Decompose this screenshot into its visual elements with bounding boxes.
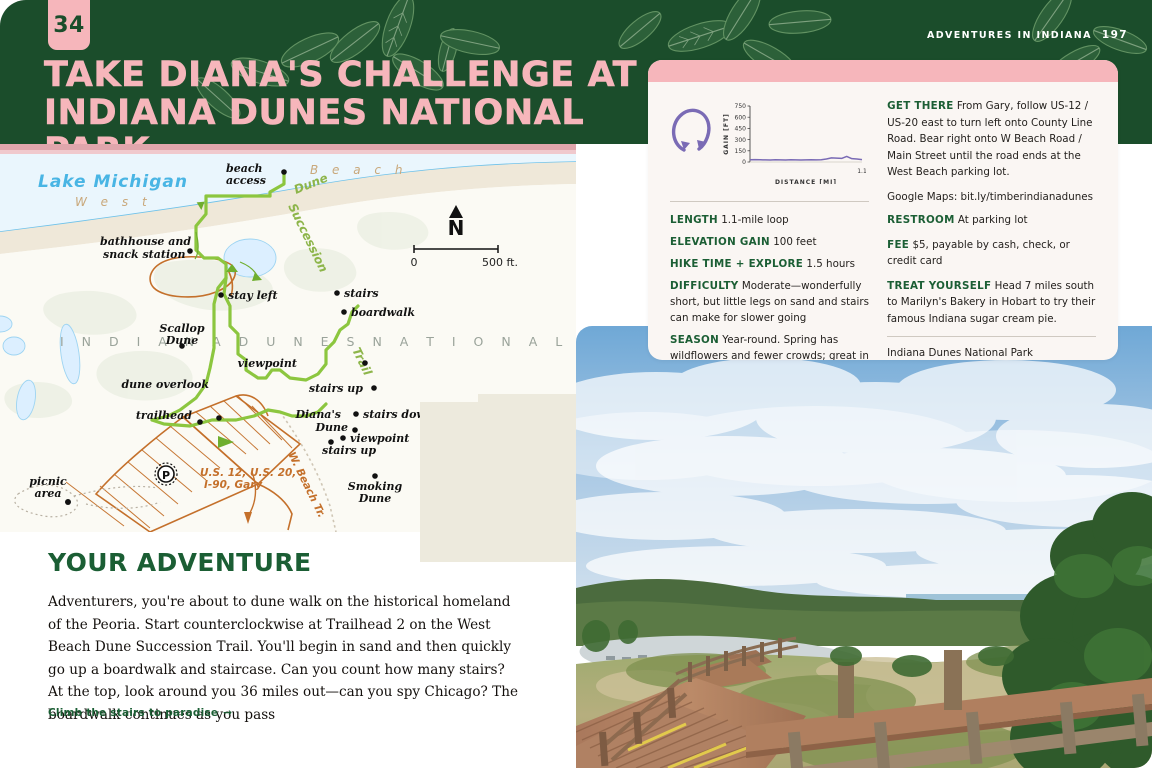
contact-block: Indiana Dunes National Park (219) 395-18…: [887, 346, 1096, 360]
info-card-left-column: 01503004506007501.1GAIN [FT]DISTANCE [MI…: [670, 98, 869, 360]
map-label-bathhouse-2: snack station: [103, 248, 185, 261]
running-head-label: ADVENTURES IN INDIANA: [927, 30, 1092, 41]
map-label-picnic-2: area: [34, 487, 61, 500]
elevation-profile-chart: 01503004506007501.1GAIN [FT]DISTANCE [MI…: [716, 98, 869, 189]
map-point-boardwalk[interactable]: [341, 309, 347, 315]
chart-ytick-600: 600: [735, 114, 747, 121]
map-point-stairs-down[interactable]: [353, 411, 359, 417]
hero-photo: [576, 326, 1152, 768]
your-adventure-body: Adventurers, you're about to dune walk o…: [48, 591, 518, 726]
your-adventure-section: YOUR ADVENTURE Adventurers, you're about…: [48, 548, 518, 726]
spec-season: SEASON Year-round. Spring has wildflower…: [670, 332, 869, 360]
map-label-boardwalk: boardwalk: [351, 306, 415, 319]
map-label-highway-2: I-90, Gary: [204, 479, 263, 491]
spec-difficulty-label: DIFFICULTY: [670, 280, 739, 292]
map-label-park: I N D I A N A D U N E S N A T I O N A L …: [60, 334, 576, 349]
spec-length-value: 1.1-mile loop: [721, 214, 788, 226]
your-adventure-heading: YOUR ADVENTURE: [48, 548, 518, 577]
spec-hike-time-value: 1.5 hours: [806, 258, 855, 270]
spec-elevation-gain: ELEVATION GAIN 100 feet: [670, 234, 869, 250]
block-google-maps-value[interactable]: Google Maps: bit.ly/timberindianadunes: [887, 191, 1093, 203]
chart-series-line: [750, 156, 862, 160]
chart-ytick-750: 750: [735, 103, 747, 110]
spec-elevation-gain-label: ELEVATION GAIN: [670, 236, 770, 248]
chart-xtick-end: 1.1: [857, 168, 866, 175]
map-scale-max: 500 ft.: [482, 256, 518, 269]
page-title-line-1: TAKE DIANA'S CHALLENGE AT: [44, 56, 684, 94]
chart-ytick-0: 0: [742, 159, 746, 166]
loop-trail-icon: [670, 98, 716, 159]
map-label-beach-access-2: access: [226, 174, 266, 187]
map-label-bathhouse-1: bathhouse and: [100, 235, 191, 248]
block-fee-value: $5, payable by cash, check, or credit ca…: [887, 239, 1070, 268]
map-label-scallop-dune-2: Dune: [165, 334, 199, 347]
map-label-highway-1: U.S. 12, U.S. 20,: [200, 467, 296, 479]
map-scale-zero: 0: [411, 256, 418, 269]
info-divider-2: [887, 336, 1096, 337]
map-point-stairs-up-1[interactable]: [371, 385, 377, 391]
chart-ylabel: GAIN [FT]: [723, 113, 730, 155]
chart-ytick-300: 300: [735, 137, 747, 144]
info-card-pink-header: [648, 60, 1118, 82]
map-label-dianas-dune-2: Dune: [314, 421, 348, 434]
map-point-viewpoint-2[interactable]: [340, 435, 346, 441]
spec-hike-time: HIKE TIME + EXPLORE 1.5 hours: [670, 256, 869, 272]
spec-season-label: SEASON: [670, 334, 719, 346]
block-treat-yourself: TREAT YOURSELF Head 7 miles south to Mar…: [887, 278, 1096, 328]
map-point-trailhead[interactable]: [197, 419, 203, 425]
map-point-bathhouse[interactable]: [187, 248, 193, 254]
map-label-viewpoint-1: viewpoint: [238, 357, 297, 370]
map-label-stairs-up-2: stairs up: [322, 444, 376, 457]
arrow-right-icon: →: [223, 707, 232, 719]
map-label-trailhead: trailhead: [136, 409, 192, 422]
spec-elevation-gain-value: 100 feet: [773, 236, 816, 248]
chart-ytick-450: 450: [735, 126, 747, 133]
contact-park-name: Indiana Dunes National Park: [887, 346, 1096, 360]
map-point-beach-access[interactable]: [281, 169, 287, 175]
page-title-line-2: INDIANA DUNES NATIONAL PARK: [44, 94, 684, 144]
page-title: TAKE DIANA'S CHALLENGE AT INDIANA DUNES …: [44, 56, 684, 144]
block-restroom: RESTROOM At parking lot: [887, 212, 1096, 229]
continue-reading-label[interactable]: Climb the stairs to paradise: [48, 707, 218, 719]
folio-number: 197: [1102, 29, 1128, 41]
map-label-west: W e s t: [75, 195, 152, 209]
info-card-right-column: GET THERE From Gary, follow US-12 / US-2…: [887, 98, 1096, 360]
map-label-lake-michigan: Lake Michigan: [38, 172, 188, 192]
chart-ytick-150: 150: [735, 148, 747, 155]
block-google-maps[interactable]: Google Maps: bit.ly/timberindianadunes: [887, 189, 1096, 206]
map-label-smoking-dune-2: Dune: [358, 492, 392, 505]
block-fee-label: FEE: [887, 239, 909, 251]
block-restroom-label: RESTROOM: [887, 214, 955, 226]
map-label-dianas-dune-1: Diana's: [294, 408, 341, 421]
block-get-there-label: GET THERE: [887, 100, 953, 112]
block-restroom-value: At parking lot: [958, 214, 1028, 226]
svg-text:P: P: [162, 469, 170, 482]
info-divider-1: [670, 201, 869, 202]
spec-length-label: LENGTH: [670, 214, 718, 226]
map-label-dune-overlook: dune overlook: [121, 378, 209, 391]
spec-hike-time-label: HIKE TIME + EXPLORE: [670, 258, 803, 270]
spec-difficulty: DIFFICULTY Moderate—wonderfully short, b…: [670, 278, 869, 326]
chart-xlabel: DISTANCE [MI]: [775, 179, 837, 184]
block-get-there: GET THERE From Gary, follow US-12 / US-2…: [887, 98, 1096, 181]
spec-length: LENGTH 1.1-mile loop: [670, 212, 869, 228]
map-point-smoking-dune[interactable]: [372, 473, 378, 479]
running-head: ADVENTURES IN INDIANA197: [927, 29, 1128, 41]
continue-reading-link[interactable]: Climb the stairs to paradise→: [48, 707, 232, 719]
block-treat-yourself-label: TREAT YOURSELF: [887, 280, 991, 292]
svg-text:N: N: [448, 216, 465, 240]
map-point-picnic-area[interactable]: [65, 499, 71, 505]
block-fee: FEE $5, payable by cash, check, or credi…: [887, 237, 1096, 270]
map-point-stairs[interactable]: [334, 290, 340, 296]
map-point-viewpoint-1[interactable]: [362, 360, 368, 366]
map-point-dune-overlook[interactable]: [216, 415, 222, 421]
map-point-stay-left[interactable]: [218, 292, 224, 298]
page-number-badge: 34: [48, 0, 90, 50]
map-label-stairs: stairs: [344, 287, 379, 300]
trail-info-card: 01503004506007501.1GAIN [FT]DISTANCE [MI…: [648, 60, 1118, 360]
map-label-stairs-up-1: stairs up: [309, 382, 363, 395]
map-label-stay-left: stay left: [228, 289, 278, 302]
